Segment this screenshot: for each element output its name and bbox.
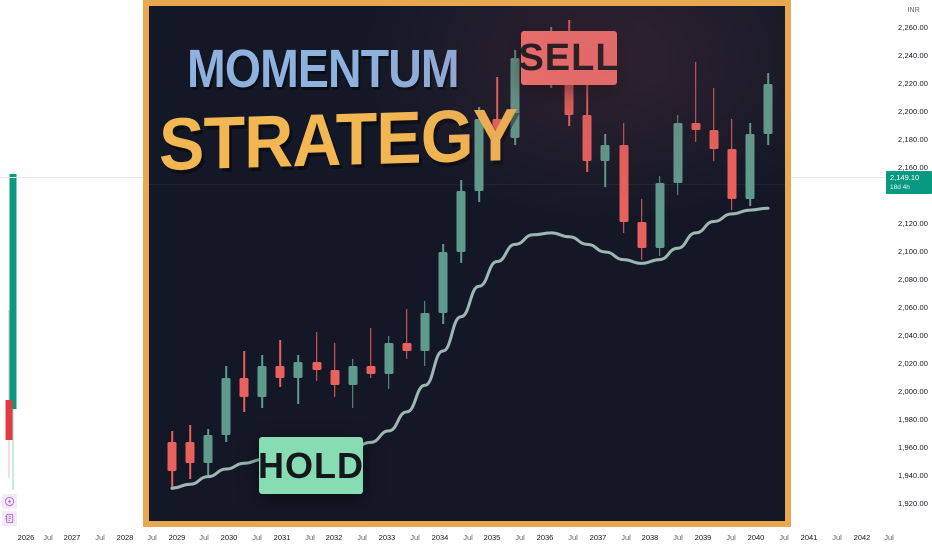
current-price-badge[interactable]: 2,149.10 18d 4h (886, 171, 932, 194)
price-tick-label: 2,200.00 (898, 107, 928, 116)
time-tick-label: 2030 (221, 533, 238, 542)
time-tick-label: Jul (884, 533, 894, 542)
time-tick-label: 2028 (117, 533, 134, 542)
banner-title-line1: MOMENTUM (187, 38, 459, 100)
time-tick-label: 2029 (169, 533, 186, 542)
time-tick-label: 2027 (64, 533, 81, 542)
time-tick-label: 2037 (590, 533, 607, 542)
price-tick-label: 2,040.00 (898, 331, 928, 340)
price-tick-label: 2,160.00 (898, 163, 928, 172)
time-tick-label: 2041 (801, 533, 818, 542)
time-tick-label: 2034 (432, 533, 449, 542)
currency-label: INR (907, 7, 920, 14)
current-price-value: 2,149.10 (890, 173, 929, 183)
time-tick-label: Jul (147, 533, 157, 542)
price-tick-label: 2,000.00 (898, 387, 928, 396)
time-tick-label: Jul (95, 533, 105, 542)
time-tick-label: 2039 (695, 533, 712, 542)
time-tick-label: 2036 (537, 533, 554, 542)
strategy-banner-image[interactable]: MOMENTUM STRATEGY SELL HOLD (143, 0, 791, 527)
time-tick-label: Jul (621, 533, 631, 542)
time-tick-label: Jul (357, 533, 367, 542)
price-tick-label: 2,260.00 (898, 23, 928, 32)
time-tick-label: Jul (252, 533, 262, 542)
price-tick-label: 1,920.00 (898, 499, 928, 508)
lightning-alert-icon[interactable] (2, 494, 17, 509)
time-tick-label: Jul (726, 533, 736, 542)
time-tick-label: Jul (43, 533, 53, 542)
object-tree-icon[interactable] (2, 511, 17, 526)
time-tick-label: Jul (673, 533, 683, 542)
price-tick-label: 2,240.00 (898, 51, 928, 60)
price-tick-label: 2,080.00 (898, 275, 928, 284)
time-tick-label: 2038 (642, 533, 659, 542)
price-tick-label: 2,120.00 (898, 219, 928, 228)
time-tick-label: 2032 (326, 533, 343, 542)
sell-signal-badge: SELL (521, 31, 617, 85)
time-scale[interactable]: 2026Jul2027Jul2028Jul2029Jul2030Jul2031J… (0, 528, 932, 550)
price-tick-label: 2,020.00 (898, 359, 928, 368)
time-tick-label: Jul (515, 533, 525, 542)
time-tick-label: 2042 (854, 533, 871, 542)
candle-wick (8, 310, 9, 478)
time-tick-label: 2026 (18, 533, 35, 542)
hold-signal-badge: HOLD (259, 437, 363, 494)
price-tick-label: 2,180.00 (898, 135, 928, 144)
price-tick-label: 1,980.00 (898, 415, 928, 424)
price-tick-label: 1,960.00 (898, 443, 928, 452)
candle-body (5, 400, 12, 440)
price-tick-label: 2,220.00 (898, 79, 928, 88)
time-tick-label: Jul (568, 533, 578, 542)
price-scale[interactable]: INR 2,149.10 18d 4h 2,260.002,240.002,22… (886, 0, 932, 528)
time-tick-label: Jul (463, 533, 473, 542)
left-edge-candles (0, 0, 30, 528)
bar-countdown: 18d 4h (890, 183, 929, 193)
time-tick-label: 2031 (274, 533, 291, 542)
time-tick-label: 2035 (484, 533, 501, 542)
price-tick-label: 1,940.00 (898, 471, 928, 480)
chart-page: MOMENTUM STRATEGY SELL HOLD INR 2,149.10… (0, 0, 932, 550)
candlestick (4, 0, 13, 528)
chart-tool-icons (2, 494, 22, 528)
time-tick-label: Jul (199, 533, 209, 542)
price-tick-label: 2,100.00 (898, 247, 928, 256)
time-tick-label: Jul (410, 533, 420, 542)
price-tick-label: 2,060.00 (898, 303, 928, 312)
banner-inner: MOMENTUM STRATEGY SELL HOLD (149, 6, 785, 521)
banner-title-line2: STRATEGY (159, 92, 517, 187)
time-tick-label: Jul (305, 533, 315, 542)
time-tick-label: Jul (832, 533, 842, 542)
time-tick-label: Jul (779, 533, 789, 542)
time-tick-label: 2033 (379, 533, 396, 542)
time-tick-label: 2040 (748, 533, 765, 542)
